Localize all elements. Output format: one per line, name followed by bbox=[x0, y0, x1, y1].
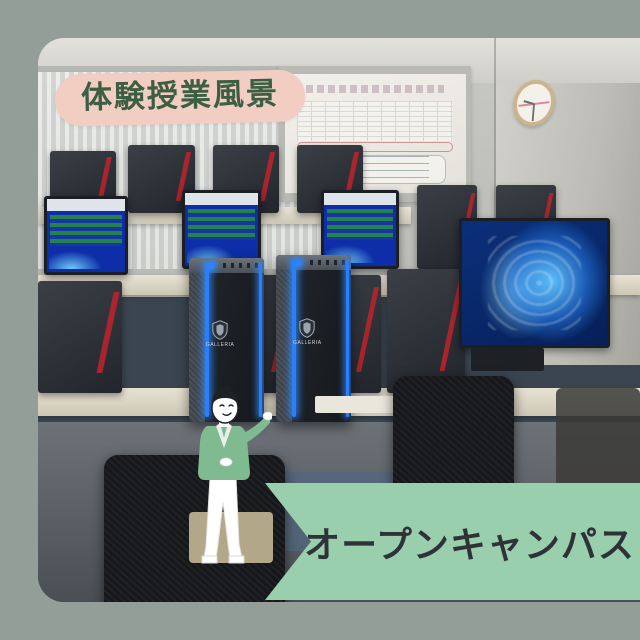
badge-taiken-jugyou: 体験授業風景 bbox=[54, 69, 305, 126]
win11-bloom-wallpaper bbox=[462, 221, 607, 345]
monitor-win11-wallpaper bbox=[459, 218, 610, 348]
clock-minute-hand bbox=[531, 104, 534, 121]
monitor-back-front-d bbox=[387, 269, 465, 393]
galleria-brand-text: GALLERIA bbox=[205, 342, 235, 348]
banner-label: オープンキャンパス bbox=[270, 516, 635, 568]
slide-spreadsheet-grid bbox=[297, 101, 453, 141]
instructor-glasses bbox=[38, 38, 40, 40]
poster-canvas: GALLERIA GALLERIA bbox=[0, 0, 640, 640]
monitor-back-front-a bbox=[38, 281, 122, 394]
galleria-brand-text-2: GALLERIA bbox=[292, 340, 322, 346]
presenter-woman-illustration bbox=[176, 386, 272, 576]
instructor-keyboard bbox=[471, 348, 543, 371]
galleria-shield-icon-2: GALLERIA bbox=[292, 318, 322, 344]
slide-title-text bbox=[306, 85, 444, 93]
monitor-screen-r2-a bbox=[44, 196, 128, 275]
banner-open-campus: オープンキャンパス bbox=[265, 483, 640, 600]
badge-label: 体験授業風景 bbox=[81, 76, 280, 116]
galleria-shield-icon: GALLERIA bbox=[205, 320, 235, 346]
